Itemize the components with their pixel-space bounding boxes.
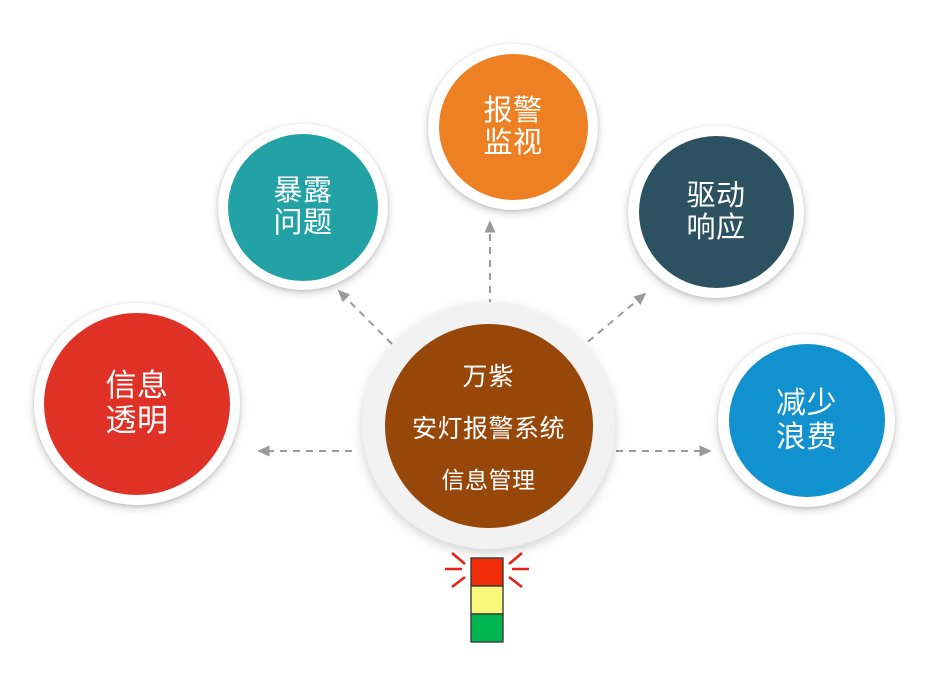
node-alarm-monitor[interactable]: 报警 监视 (428, 44, 598, 210)
diagram-canvas: 万紫 安灯报警系统 信息管理 报警 监视 暴露 问题 驱动 响应 信息 透明 减… (0, 0, 939, 680)
center-hub[interactable]: 万紫 安灯报警系统 信息管理 (362, 302, 615, 549)
node-drive-response-disc: 驱动 响应 (639, 136, 794, 288)
andon-segment-red (471, 558, 503, 586)
node-reduce-waste[interactable]: 减少 浪费 (718, 334, 895, 507)
node-reduce-waste-line-1: 减少 (776, 387, 837, 421)
center-hub-line-3: 信息管理 (442, 461, 536, 495)
node-expose-problem-line-1: 暴露 (273, 175, 332, 207)
andon-light-tower-icon (432, 545, 542, 650)
node-reduce-waste-line-2: 浪费 (776, 421, 837, 455)
center-hub-line-1: 万紫 (462, 357, 514, 393)
node-expose-problem-disc: 暴露 问题 (228, 134, 378, 281)
node-drive-response-line-1: 驱动 (686, 180, 745, 212)
node-expose-problem[interactable]: 暴露 问题 (218, 124, 388, 290)
connector-hub-to-expose-problem (339, 291, 392, 344)
node-alarm-monitor-disc: 报警 监视 (439, 54, 588, 200)
node-drive-response-line-2: 响应 (686, 212, 745, 244)
node-info-transparent[interactable]: 信息 透明 (34, 303, 240, 505)
center-hub-line-2: 安灯报警系统 (412, 409, 565, 445)
node-alarm-monitor-line-1: 报警 (483, 95, 542, 127)
node-info-transparent-disc: 信息 透明 (44, 313, 230, 495)
andon-segment-yellow (471, 586, 503, 614)
node-expose-problem-line-2: 问题 (273, 207, 332, 239)
node-alarm-monitor-line-2: 监视 (483, 127, 542, 159)
node-info-transparent-line-2: 透明 (106, 404, 169, 439)
node-drive-response[interactable]: 驱动 响应 (628, 126, 804, 298)
andon-segment-green (471, 614, 503, 642)
connector-hub-to-drive-response (578, 294, 645, 350)
node-reduce-waste-disc: 减少 浪费 (729, 344, 885, 497)
center-hub-disc: 万紫 安灯报警系统 信息管理 (385, 324, 593, 528)
node-info-transparent-line-1: 信息 (106, 369, 169, 404)
